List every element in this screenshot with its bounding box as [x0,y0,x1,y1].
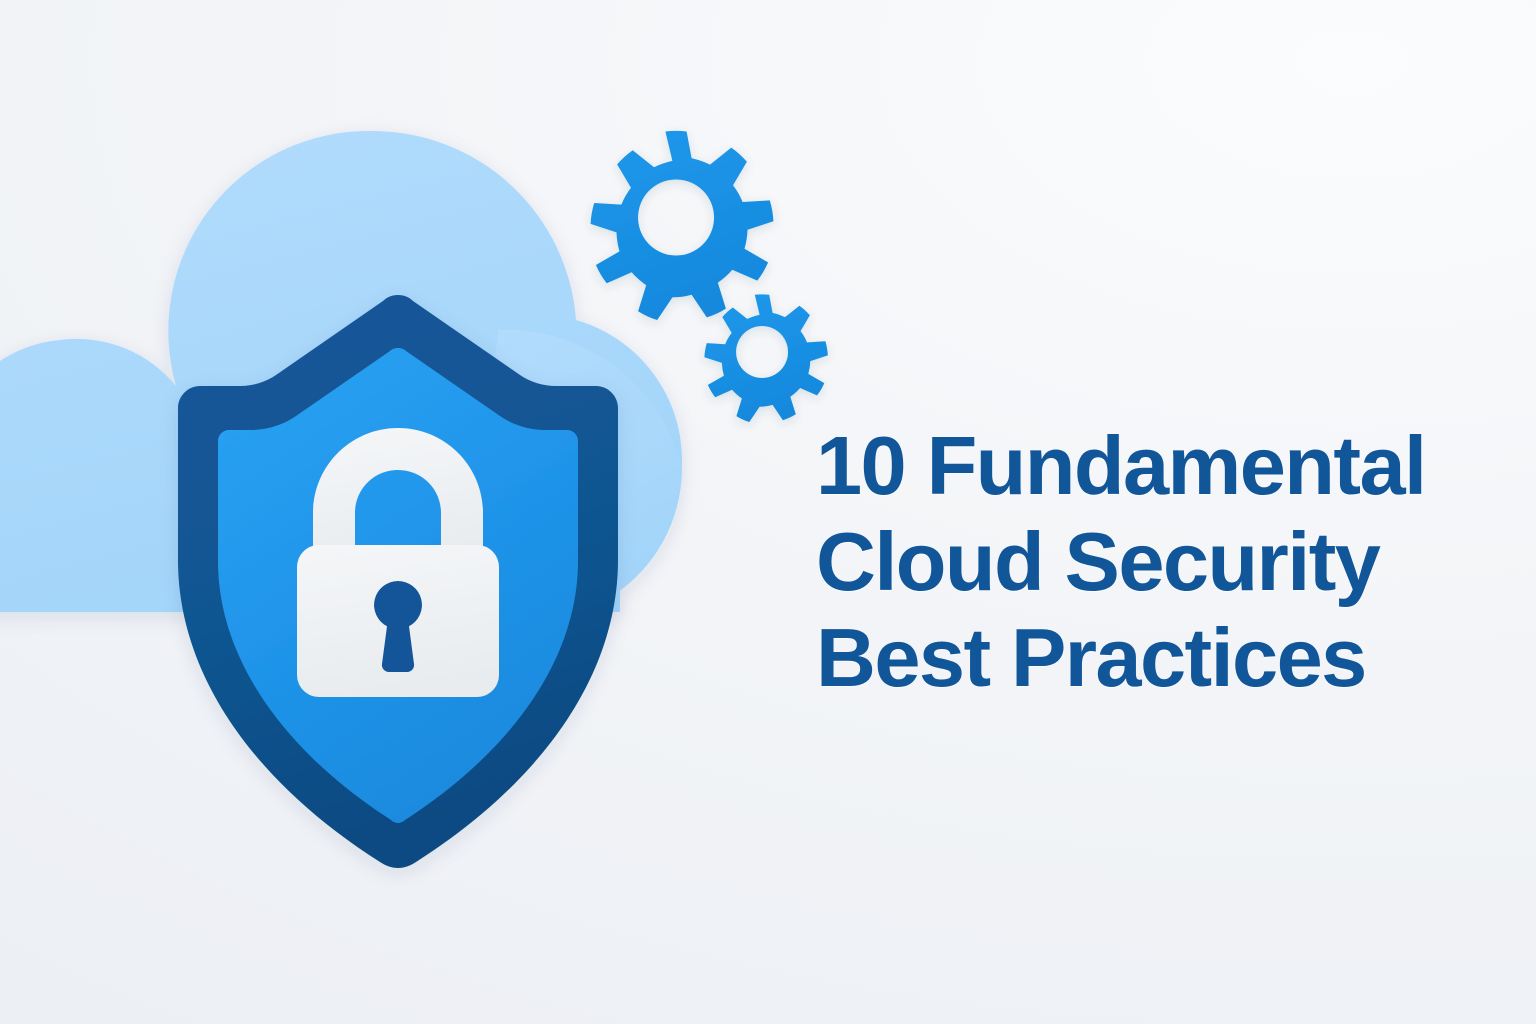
page-title: 10 Fundamental Cloud Security Best Pract… [816,418,1496,706]
gear-small-icon [704,294,827,422]
padlock-icon [297,428,499,697]
page-title-line-3: Best Practices [816,610,1496,706]
gear-large-icon [591,131,774,320]
hero-banner: 10 Fundamental Cloud Security Best Pract… [0,0,1536,1024]
page-title-line-1: 10 Fundamental [816,418,1496,514]
page-title-line-2: Cloud Security [816,514,1496,610]
